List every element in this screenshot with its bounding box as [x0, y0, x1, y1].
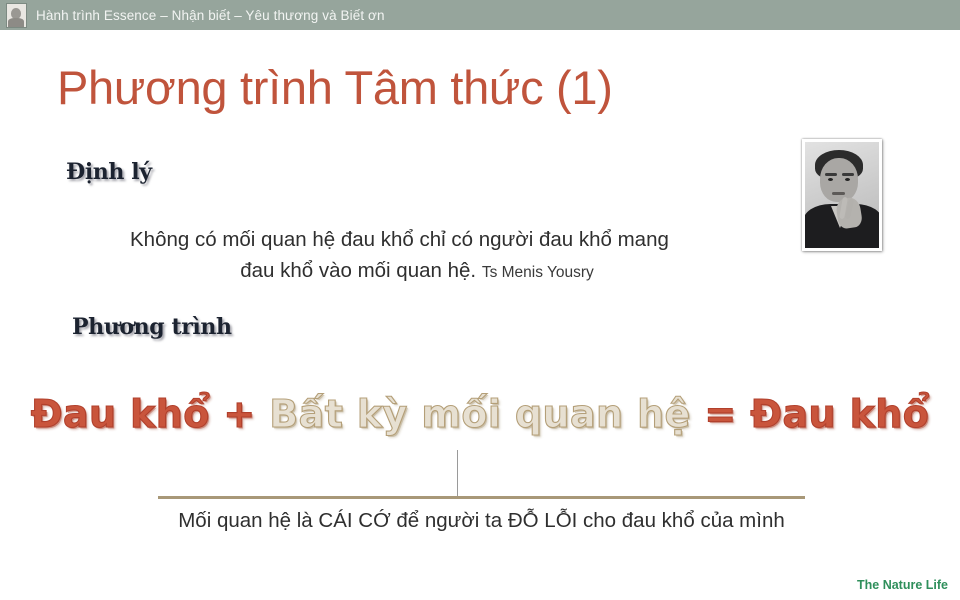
photo-mouth — [832, 192, 845, 195]
photo-eyebrow-right — [842, 173, 854, 176]
header-title: Hành trình Essence – Nhận biết – Yêu thư… — [36, 8, 385, 23]
portrait-photo — [805, 142, 879, 248]
photo-eyebrow-left — [825, 173, 837, 176]
connector-vertical-line — [457, 450, 458, 497]
portrait-thumbnail-icon — [6, 3, 27, 28]
photo-eye-left — [828, 178, 833, 181]
header-bar: Hành trình Essence – Nhận biết – Yêu thư… — [0, 0, 960, 30]
thumbnail-body-shape — [8, 18, 24, 27]
equation-operator-equals: = — [704, 392, 736, 436]
equation-term-3: Đau khổ — [750, 392, 929, 436]
theorem-source: Ts Menis Yousry — [482, 264, 594, 281]
caption-text: Mối quan hệ là CÁI CỚ để người ta ĐỖ LỖI… — [160, 505, 803, 536]
page-title: Phương trình Tâm thức (1) — [57, 60, 613, 115]
equation-term-2: Bất kỳ mối quan hệ — [269, 392, 690, 436]
equation-operator-plus: + — [223, 392, 255, 436]
theorem-body: Không có mối quan hệ đau khổ chỉ có ngườ… — [130, 224, 800, 288]
photo-eye-right — [845, 178, 850, 181]
equation-term-1: Đau khổ — [31, 392, 210, 436]
theorem-text-line-2: đau khổ vào mối quan hệ. Ts Menis Yousry — [130, 255, 800, 288]
equation-row: Đau khổ + Bất kỳ mối quan hệ = Đau khổ — [0, 392, 960, 436]
theorem-heading: Định lý — [66, 159, 152, 185]
photo-head — [820, 158, 858, 202]
portrait-photo-frame — [802, 139, 882, 251]
caption-line-1: Mối quan hệ là CÁI CỚ để người ta ĐỖ LỖI… — [178, 509, 695, 532]
connector-horizontal-rule — [158, 496, 805, 499]
theorem-text-line-1: Không có mối quan hệ đau khổ chỉ có ngườ… — [130, 224, 800, 255]
caption-line-2: của mình — [700, 509, 784, 532]
theorem-text-line-2-text: đau khổ vào mối quan hệ. — [240, 259, 476, 282]
equation-heading: Phương trình — [72, 314, 232, 340]
footer-brand: The Nature Life — [857, 578, 948, 592]
thumbnail-face-shape — [11, 8, 21, 19]
